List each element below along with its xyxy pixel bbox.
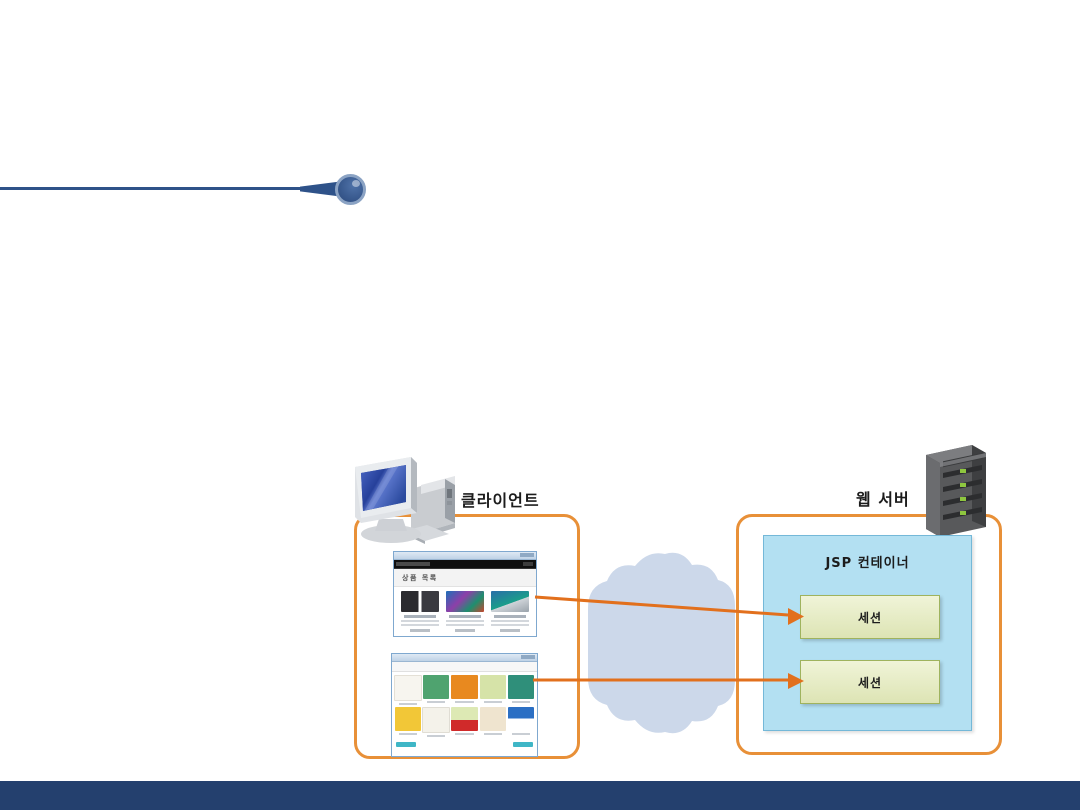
header-bullet-icon bbox=[335, 174, 366, 205]
product-name bbox=[404, 615, 436, 618]
network-cloud bbox=[575, 548, 745, 738]
book-caption bbox=[455, 701, 473, 703]
book-cover bbox=[451, 675, 477, 699]
book-caption bbox=[484, 733, 502, 735]
book-cell[interactable] bbox=[423, 675, 449, 705]
product-desc bbox=[491, 624, 529, 626]
book-cover bbox=[508, 675, 534, 699]
book-caption bbox=[455, 733, 473, 735]
browser-window-products[interactable]: 상품 목록 bbox=[393, 551, 537, 637]
header-rule bbox=[0, 187, 340, 190]
product-price bbox=[410, 629, 430, 632]
product-desc bbox=[446, 620, 484, 622]
desktop-computer-icon bbox=[349, 455, 461, 548]
book-cell[interactable] bbox=[451, 707, 477, 737]
server-label: 웹 서버 bbox=[856, 486, 910, 510]
book-caption bbox=[484, 701, 502, 703]
product-desc bbox=[401, 620, 439, 622]
book-cell[interactable] bbox=[480, 707, 506, 737]
book-caption bbox=[512, 701, 530, 703]
browser-navbar bbox=[394, 560, 536, 569]
product-name bbox=[494, 615, 526, 618]
jsp-container-title: JSP 컨테이너 bbox=[764, 536, 971, 571]
book-caption bbox=[399, 703, 417, 705]
smartphone-thumb bbox=[401, 591, 439, 612]
books-bottombar bbox=[392, 740, 537, 750]
browser-window-books[interactable] bbox=[391, 653, 538, 757]
books-next-button[interactable] bbox=[513, 742, 533, 747]
book-cover bbox=[480, 707, 506, 731]
product-cell[interactable] bbox=[490, 591, 530, 632]
book-cell[interactable] bbox=[508, 707, 534, 737]
tablet-thumb bbox=[446, 591, 484, 612]
jsp-container-box: JSP 컨테이너 세션 세션 bbox=[763, 535, 972, 731]
books-prev-button[interactable] bbox=[396, 742, 416, 747]
book-caption bbox=[399, 733, 417, 735]
books-toolbar bbox=[392, 662, 537, 672]
book-cover bbox=[422, 707, 450, 733]
product-cell[interactable] bbox=[400, 591, 440, 632]
product-grid bbox=[394, 587, 536, 632]
book-caption bbox=[427, 701, 445, 703]
browser-titlebar bbox=[392, 654, 537, 662]
product-price bbox=[455, 629, 475, 632]
book-cover bbox=[423, 675, 449, 699]
book-caption bbox=[512, 733, 530, 735]
product-cell[interactable] bbox=[445, 591, 485, 632]
book-cover bbox=[480, 675, 506, 699]
book-cell[interactable] bbox=[451, 675, 477, 705]
laptop-thumb bbox=[491, 591, 529, 612]
book-cell[interactable] bbox=[395, 675, 421, 705]
books-grid bbox=[392, 672, 537, 740]
product-desc bbox=[446, 624, 484, 626]
product-price bbox=[500, 629, 520, 632]
footer-band bbox=[0, 781, 1080, 810]
book-cover bbox=[451, 707, 477, 731]
product-name bbox=[449, 615, 481, 618]
book-cell[interactable] bbox=[480, 675, 506, 705]
product-desc bbox=[491, 620, 529, 622]
book-cell[interactable] bbox=[423, 707, 449, 737]
browser-footer bbox=[400, 636, 430, 638]
browser-titlebar bbox=[394, 552, 536, 560]
header-bullet-gloss bbox=[352, 180, 360, 187]
book-cover bbox=[394, 675, 422, 701]
book-cell[interactable] bbox=[395, 707, 421, 737]
server-tower-icon bbox=[916, 443, 992, 540]
client-label: 클라이언트 bbox=[461, 487, 540, 511]
book-cover bbox=[508, 707, 534, 731]
book-cell[interactable] bbox=[508, 675, 534, 705]
page-heading-products: 상품 목록 bbox=[394, 569, 536, 587]
book-cover bbox=[395, 707, 421, 731]
book-caption bbox=[427, 735, 445, 737]
product-desc bbox=[401, 624, 439, 626]
session-box[interactable]: 세션 bbox=[800, 595, 940, 639]
session-box[interactable]: 세션 bbox=[800, 660, 940, 704]
